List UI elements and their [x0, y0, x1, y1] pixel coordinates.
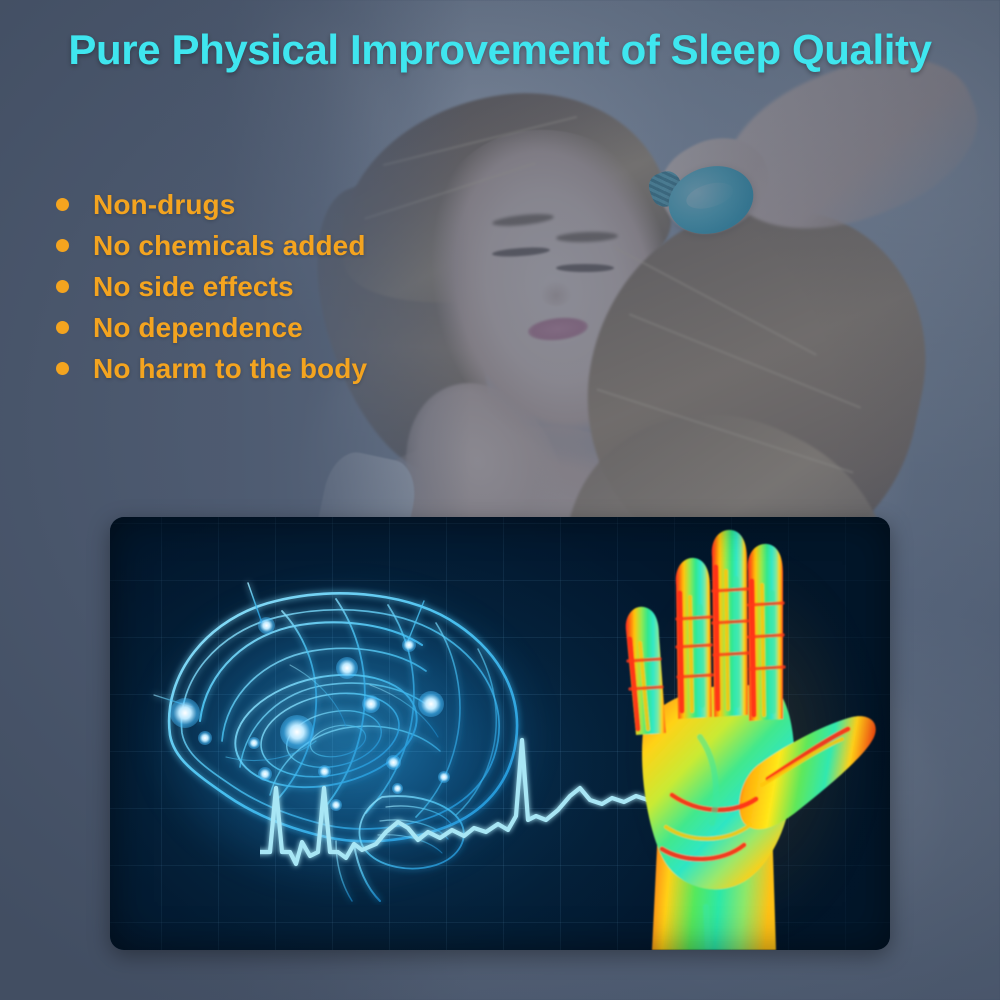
- poster-root: Pure Physical Improvement of Sleep Quali…: [0, 0, 1000, 1000]
- bullet-dot-icon: [56, 362, 69, 375]
- list-item: No side effects: [56, 266, 367, 307]
- benefit-label: No dependence: [93, 312, 303, 344]
- benefit-label: No side effects: [93, 271, 294, 303]
- list-item: No harm to the body: [56, 348, 367, 389]
- thermal-hand-icon: [580, 527, 890, 950]
- benefit-label: Non-drugs: [93, 189, 235, 221]
- science-panel: [110, 517, 890, 950]
- bullet-dot-icon: [56, 321, 69, 334]
- list-item: No dependence: [56, 307, 367, 348]
- page-title: Pure Physical Improvement of Sleep Quali…: [0, 26, 1000, 74]
- list-item: Non-drugs: [56, 184, 367, 225]
- thermal-hand-vector: [580, 527, 890, 950]
- benefit-label: No harm to the body: [93, 353, 367, 385]
- benefit-label: No chemicals added: [93, 230, 366, 262]
- bullet-dot-icon: [56, 198, 69, 211]
- benefits-list: Non-drugs No chemicals added No side eff…: [56, 184, 367, 389]
- bullet-dot-icon: [56, 239, 69, 252]
- bullet-dot-icon: [56, 280, 69, 293]
- list-item: No chemicals added: [56, 225, 367, 266]
